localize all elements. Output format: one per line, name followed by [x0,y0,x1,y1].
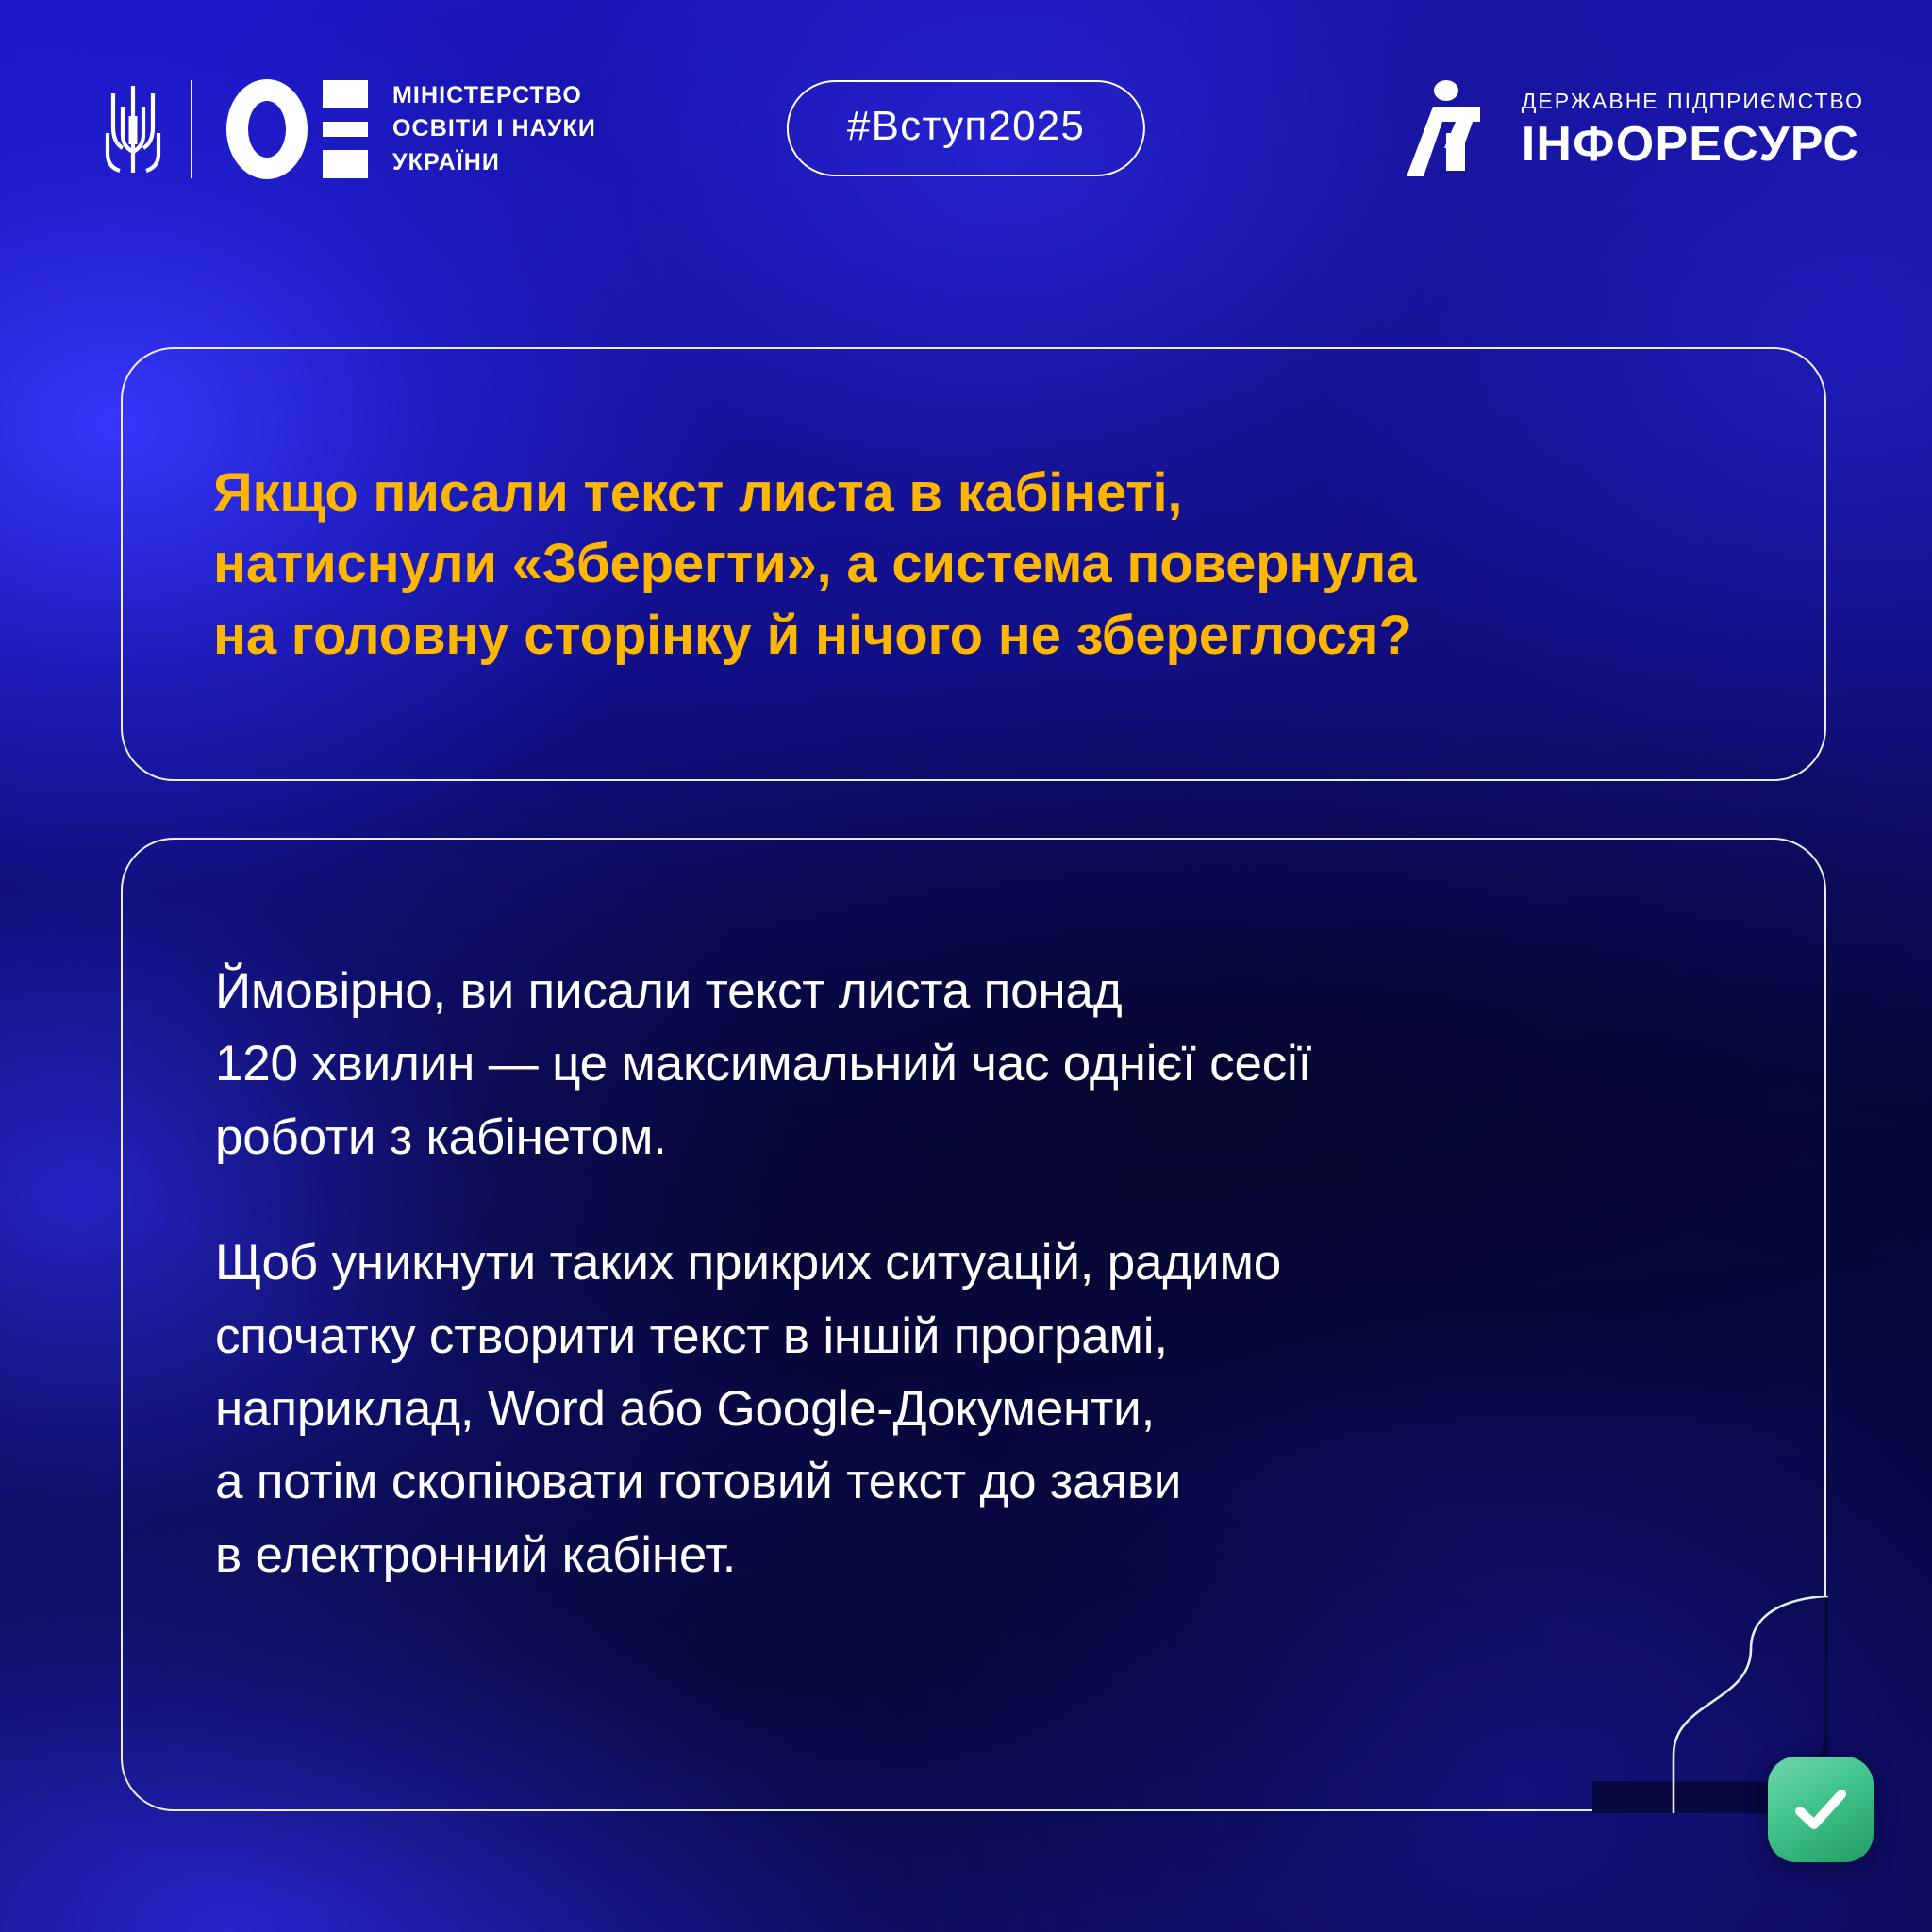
mon-oe-emblem-icon [226,79,368,179]
answer-p2-line-4: а потім скопіювати готовий текст до заяв… [215,1454,1181,1509]
inforesurs-logo-icon [1405,78,1497,178]
emblem-circle [226,79,308,179]
emblem-bar-bottom [323,150,368,178]
emblem-bars [323,80,368,178]
question-line-2: натиснули «Зберегти», а система повернул… [213,528,1758,599]
ministry-logo-lockup: МІНІСТЕРСТВО ОСВІТИ І НАУКИ УКРАЇНИ [104,77,596,181]
logo-divider [191,80,192,178]
answer-paragraph-1: Ймовірно, ви писали текст листа понад 12… [215,955,1734,1174]
ministry-name-line-3: УКРАЇНИ [392,146,596,180]
answer-p1-line-3: роботи з кабінетом. [215,1109,667,1165]
answer-p1-line-2: 120 хвилин — це максимальний час однієї … [215,1036,1311,1091]
ministry-name-line-1: МІНІСТЕРСТВО [392,79,596,113]
answer-text: Ймовірно, ви писали текст листа понад 12… [215,955,1734,1591]
question-text: Якщо писали текст листа в кабінеті, нати… [213,349,1758,779]
inforesurs-logo-lockup: ДЕРЖАВНЕ ПІДПРИЄМСТВО ІНФОРЕСУРС [1405,75,1864,181]
ministry-name-line-2: ОСВІТИ І НАУКИ [392,112,596,146]
answer-p2-line-5: в електронний кабінет. [215,1527,736,1583]
status-badge [1768,1757,1874,1862]
question-card: Якщо писали текст листа в кабінеті, нати… [121,347,1826,781]
ministry-name: МІНІСТЕРСТВО ОСВІТИ І НАУКИ УКРАЇНИ [392,79,596,180]
inforesurs-name-line-1: ДЕРЖАВНЕ ПІДПРИЄМСТВО [1522,89,1864,114]
answer-p2-line-2: спочатку створити текст в іншій програмі… [215,1308,1168,1364]
answer-p2-line-3: наприклад, Word або Google-Документи, [215,1381,1155,1437]
answer-p2-line-1: Щоб уникнути таких прикрих ситуацій, рад… [215,1235,1281,1291]
ukraine-trident-icon [104,78,162,180]
inforesurs-name: ДЕРЖАВНЕ ПІДПРИЄМСТВО ІНФОРЕСУРС [1522,89,1864,169]
hashtag-badge[interactable]: #Вступ2025 [787,80,1145,176]
slide-canvas: МІНІСТЕРСТВО ОСВІТИ І НАУКИ УКРАЇНИ #Вст… [0,0,1932,1932]
header-bar: МІНІСТЕРСТВО ОСВІТИ І НАУКИ УКРАЇНИ #Вст… [0,0,1932,236]
answer-paragraph-2: Щоб уникнути таких прикрих ситуацій, рад… [215,1226,1734,1591]
emblem-bar-top [323,80,368,108]
question-line-3: на головну сторінку й нічого не зберегло… [213,600,1758,671]
inforesurs-name-line-2: ІНФОРЕСУРС [1522,120,1864,169]
check-mark-icon [1786,1774,1856,1844]
answer-p1-line-1: Ймовірно, ви писали текст листа понад [215,963,1122,1019]
question-line-1: Якщо писали текст листа в кабінеті, [213,458,1758,528]
emblem-bar-mid [323,122,368,137]
answer-card: Ймовірно, ви писали текст листа понад 12… [121,838,1826,1811]
